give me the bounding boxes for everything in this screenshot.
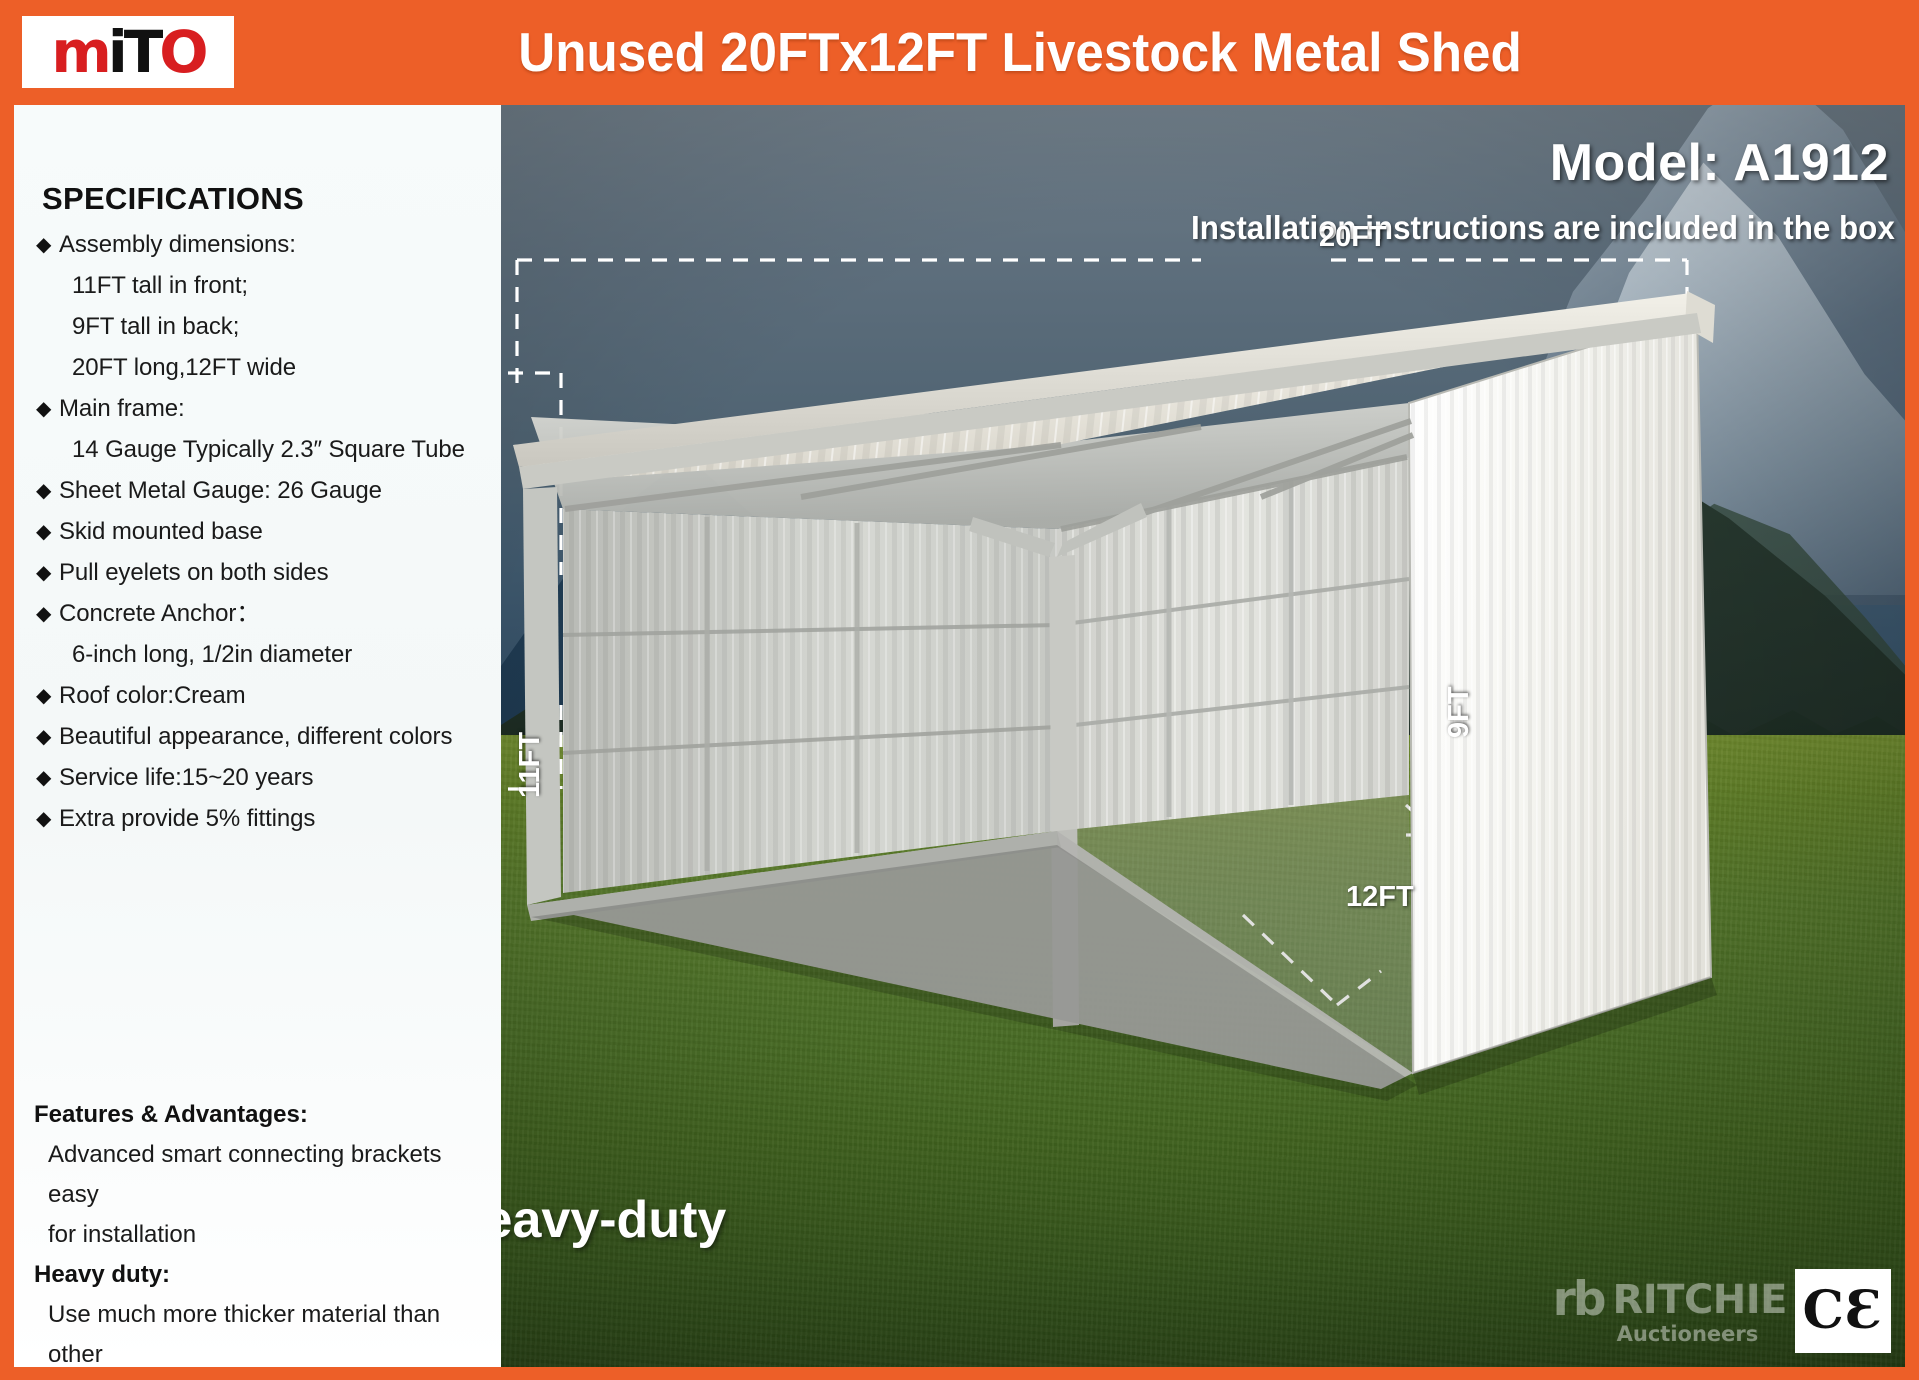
- heavy-duty-callout: Heavy-duty: [501, 1190, 726, 1250]
- specifications-list: ◆ Assembly dimensions: 11FT tall in fron…: [36, 227, 486, 842]
- spec-item: ◆ Concrete Anchor：: [36, 596, 486, 632]
- watermark-top-row: rb RITCHIE: [1553, 1278, 1787, 1322]
- ce-mark-badge: CƐ: [1795, 1269, 1891, 1353]
- spec-label: Pull eyelets on both sides: [59, 555, 329, 591]
- product-spec-sheet: miTO Unused 20FTx12FT Livestock Metal Sh…: [0, 0, 1919, 1380]
- spec-subline: 11FT tall in front;: [72, 268, 486, 304]
- diamond-bullet-icon: ◆: [36, 227, 59, 263]
- watermark-subtitle: Auctioneers: [1617, 1323, 1787, 1345]
- shed-left-wall-ribs: [563, 509, 1057, 893]
- diamond-bullet-icon: ◆: [36, 555, 59, 591]
- spec-label: Roof color:Cream: [59, 678, 245, 714]
- logo-letter-o: O: [159, 18, 204, 86]
- spec-label: Main frame:: [59, 391, 185, 427]
- spec-item: ◆ Main frame:: [36, 391, 486, 427]
- logo-wordmark: miTO: [51, 23, 204, 81]
- rb-logo-icon: rb: [1553, 1278, 1604, 1322]
- watermark-name: RITCHIE: [1612, 1280, 1787, 1320]
- mito-logo: miTO: [22, 16, 234, 88]
- diamond-bullet-icon: ◆: [36, 473, 59, 509]
- spec-label: Sheet Metal Gauge: 26 Gauge: [59, 473, 382, 509]
- spec-subline: 14 Gauge Typically 2.3″ Square Tube: [72, 432, 486, 468]
- spec-item: ◆ Extra provide 5% fittings: [36, 801, 486, 837]
- specifications-panel: SPECIFICATIONS ◆ Assembly dimensions: 11…: [14, 105, 501, 1367]
- product-photo-scene: Model: A1912 Installation instructions a…: [501, 105, 1905, 1367]
- diamond-bullet-icon: ◆: [36, 801, 59, 837]
- spec-item: ◆ Beautiful appearance, different colors: [36, 719, 486, 755]
- page-title: Unused 20FTx12FT Livestock Metal Shed: [323, 14, 1718, 90]
- spec-item: ◆ Skid mounted base: [36, 514, 486, 550]
- ce-mark-icon: CƐ: [1803, 1285, 1884, 1337]
- diamond-bullet-icon: ◆: [36, 678, 59, 714]
- spec-subline: 9FT tall in back;: [72, 309, 486, 345]
- diamond-bullet-icon: ◆: [36, 391, 59, 427]
- spec-subline: 6-inch long, 1/2in diameter: [72, 637, 486, 673]
- spec-item: ◆ Roof color:Cream: [36, 678, 486, 714]
- spec-label: Beautiful appearance, different colors: [59, 719, 452, 755]
- heavy-duty-heading: Heavy duty:: [34, 1255, 494, 1295]
- spec-label: Concrete Anchor：: [59, 596, 260, 632]
- model-label: Model: A1912: [1550, 133, 1889, 193]
- spec-label: Skid mounted base: [59, 514, 263, 550]
- features-line: Advanced smart connecting brackets easy: [48, 1135, 494, 1215]
- installation-note: Installation instructions are included i…: [1191, 209, 1895, 247]
- ritchie-watermark: rb RITCHIE Auctioneers: [1553, 1278, 1787, 1345]
- spec-item: ◆ Service life:15~20 years: [36, 760, 486, 796]
- dimension-label-front-height: 11FT: [514, 732, 547, 798]
- logo-letter-it: iT: [108, 18, 159, 86]
- heavy-duty-line: Use much more thicker material than othe…: [48, 1295, 494, 1375]
- spec-item: ◆ Assembly dimensions:: [36, 227, 486, 263]
- spec-label: Assembly dimensions:: [59, 227, 296, 263]
- specifications-heading: SPECIFICATIONS: [42, 181, 304, 217]
- dimension-label-back-height: 9FT: [1443, 686, 1476, 738]
- diamond-bullet-icon: ◆: [36, 760, 59, 796]
- spec-label: Service life:15~20 years: [59, 760, 313, 796]
- features-line: for installation: [48, 1215, 494, 1255]
- shed-front-left-column: [523, 487, 561, 905]
- features-advantages-section: Features & Advantages: Advanced smart co…: [34, 1095, 494, 1380]
- dimension-label-width: 12FT: [1346, 881, 1414, 914]
- spec-label: Extra provide 5% fittings: [59, 801, 315, 837]
- features-heading: Features & Advantages:: [34, 1095, 494, 1135]
- dimension-label-length: 20FT: [1319, 221, 1387, 254]
- heavy-duty-line: competitors at the site: [48, 1375, 494, 1380]
- diamond-bullet-icon: ◆: [36, 719, 59, 755]
- spec-item: ◆ Pull eyelets on both sides: [36, 555, 486, 591]
- shed-illustration: [501, 105, 1905, 1367]
- spec-subline: 20FT long,12FT wide: [72, 350, 486, 386]
- header-bar: miTO Unused 20FTx12FT Livestock Metal Sh…: [0, 0, 1919, 105]
- diamond-bullet-icon: ◆: [36, 514, 59, 550]
- spec-item: ◆ Sheet Metal Gauge: 26 Gauge: [36, 473, 486, 509]
- logo-letter-m: m: [51, 18, 107, 86]
- diamond-bullet-icon: ◆: [36, 596, 59, 632]
